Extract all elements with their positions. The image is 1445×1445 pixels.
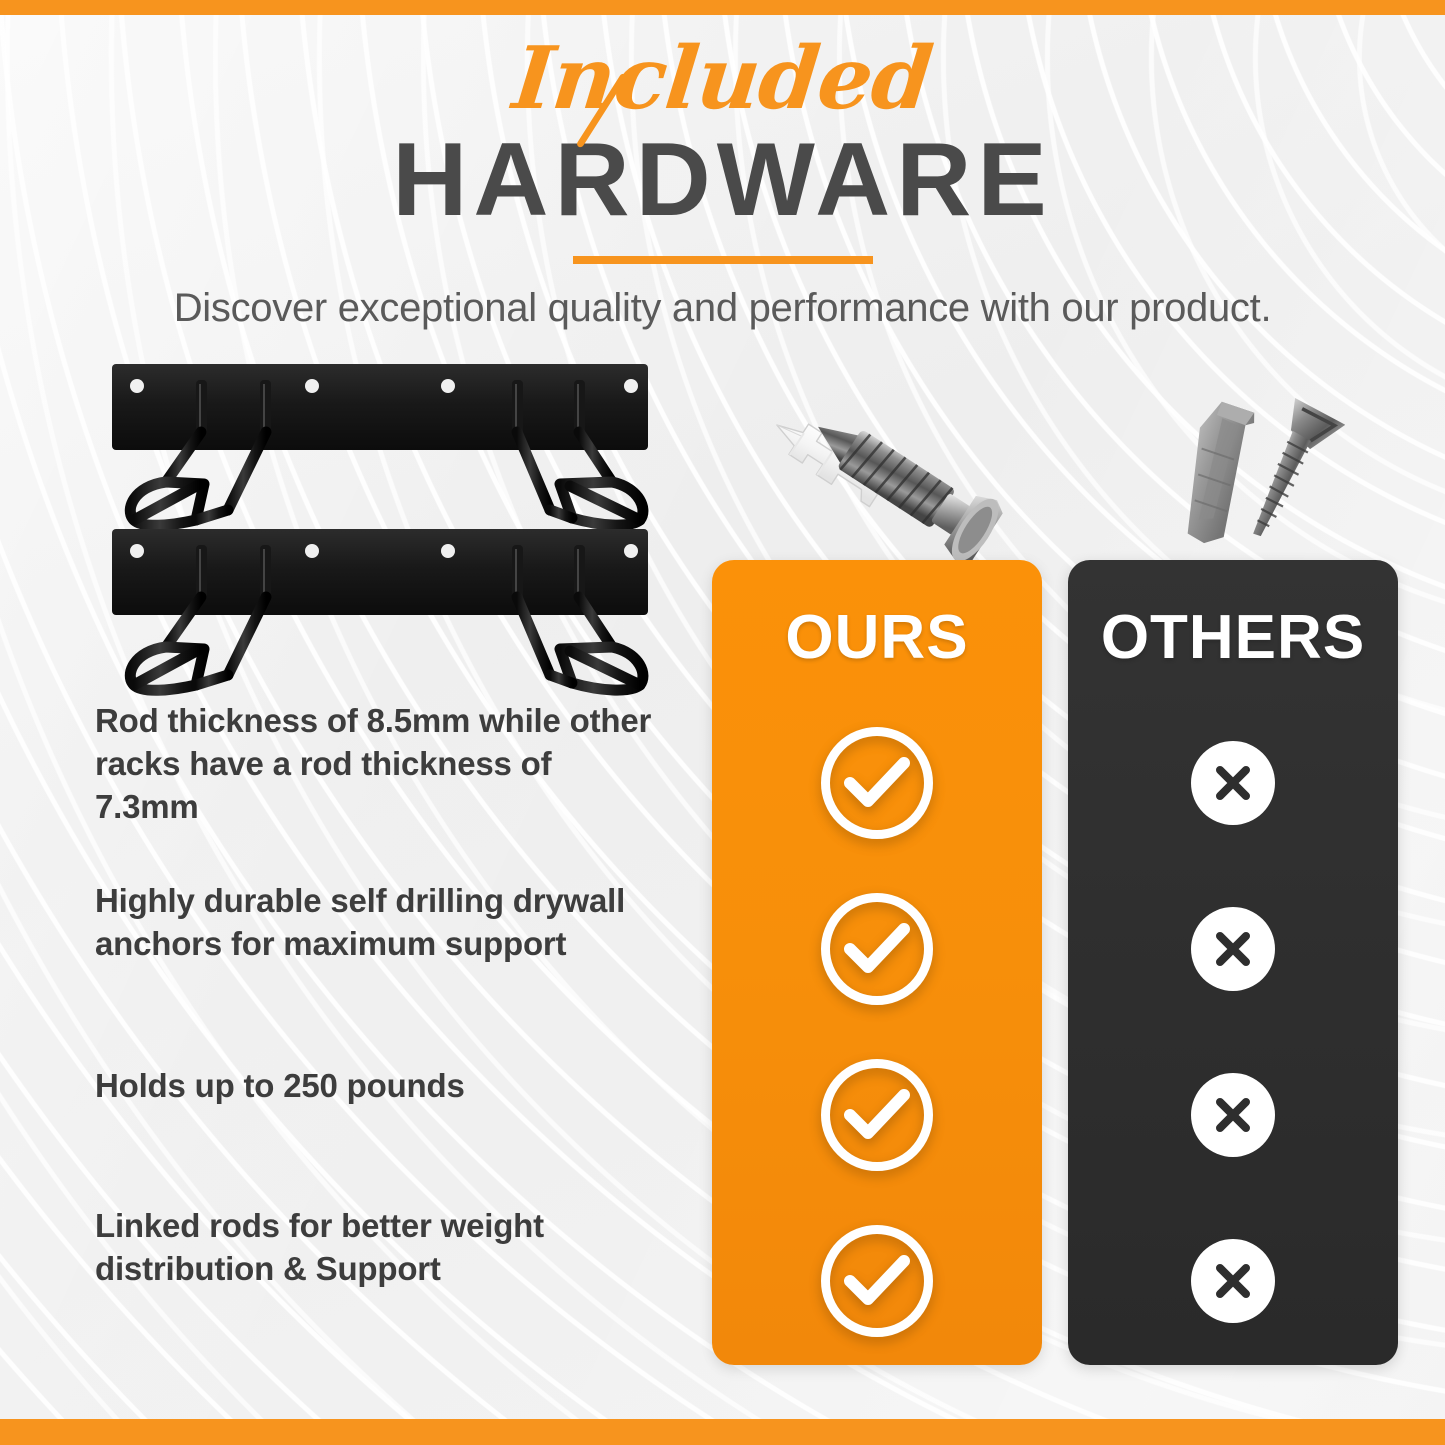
mark-row	[712, 1032, 1042, 1198]
cross-icon	[1191, 741, 1275, 825]
infographic-canvas: Included HARDWARE Discover exceptional q…	[0, 0, 1445, 1445]
top-accent-bar	[0, 0, 1445, 15]
feature-item: Linked rods for better weight distributi…	[95, 1205, 595, 1291]
mark-row	[1068, 866, 1398, 1032]
ours-marks	[712, 700, 1042, 1364]
mark-row	[1068, 1198, 1398, 1364]
feature-item: Holds up to 250 pounds	[95, 1065, 655, 1108]
subtitle: Discover exceptional quality and perform…	[0, 286, 1445, 331]
product-rack-image-1	[100, 360, 660, 540]
mark-row	[1068, 700, 1398, 866]
others-title: OTHERS	[1068, 602, 1398, 673]
cross-icon	[1191, 1239, 1275, 1323]
drywall-anchor-and-screw-image	[740, 405, 1030, 575]
cross-icon	[1191, 907, 1275, 991]
wall-plug-and-wood-screw-image	[1160, 392, 1345, 567]
check-icon	[821, 1225, 933, 1337]
feature-item: Highly durable self drilling drywall anc…	[95, 880, 680, 966]
others-marks	[1068, 700, 1398, 1364]
mark-row	[712, 866, 1042, 1032]
comparison-panel-ours: OURS	[712, 560, 1042, 1365]
check-icon	[821, 727, 933, 839]
page-title: HARDWARE	[0, 128, 1445, 232]
script-title: Included	[0, 34, 1445, 124]
comparison-panel-others: OTHERS	[1068, 560, 1398, 1365]
product-rack-image-2	[100, 525, 660, 705]
mark-row	[1068, 1032, 1398, 1198]
title-underline	[573, 256, 873, 264]
feature-item: Rod thickness of 8.5mm while other racks…	[95, 700, 655, 829]
ours-title: OURS	[712, 602, 1042, 673]
check-icon	[821, 1059, 933, 1171]
bottom-accent-bar	[0, 1419, 1445, 1445]
mark-row	[712, 700, 1042, 866]
header: Included HARDWARE Discover exceptional q…	[0, 34, 1445, 331]
cross-icon	[1191, 1073, 1275, 1157]
mark-row	[712, 1198, 1042, 1364]
check-icon	[821, 893, 933, 1005]
